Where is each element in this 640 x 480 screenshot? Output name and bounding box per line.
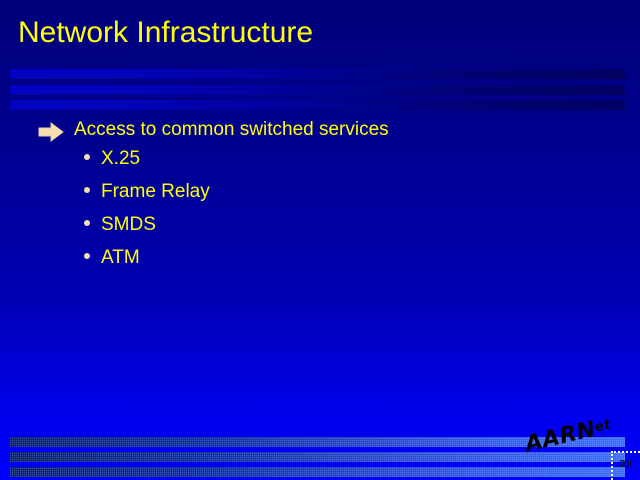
dot-bullet-icon	[84, 253, 90, 259]
aarnet-logo-main: AARN	[523, 417, 598, 457]
list-item: SMDS	[0, 214, 640, 247]
dot-bullet-icon	[84, 220, 90, 226]
bullet-item-level1: Access to common switched services	[0, 118, 640, 148]
slide-title: Network Infrastructure	[18, 16, 313, 50]
decorative-bar-top-3	[10, 100, 625, 110]
list-item-label: ATM	[101, 247, 140, 269]
list-item: X.25	[0, 148, 640, 181]
bullet-item-level1-label: Access to common switched services	[74, 118, 389, 142]
decorative-bar-top-1	[10, 69, 625, 79]
list-item: ATM	[0, 247, 640, 280]
list-item: Frame Relay	[0, 181, 640, 214]
list-item-label: X.25	[101, 148, 140, 170]
dot-bullet-icon	[84, 187, 90, 193]
slide-body: Access to common switched services X.25 …	[0, 118, 640, 280]
decorative-bar-bottom-3	[10, 467, 625, 477]
page-number-box: 28	[611, 451, 640, 480]
list-item-label: Frame Relay	[101, 181, 210, 203]
page-number: 28	[619, 459, 633, 470]
list-item-label: SMDS	[101, 214, 156, 236]
dot-bullet-icon	[84, 154, 90, 160]
decorative-bar-top-2	[10, 85, 625, 95]
presentation-slide: Network Infrastructure Access to common …	[0, 0, 640, 480]
aarnet-logo-suffix: et	[593, 417, 612, 435]
right-arrow-icon	[38, 122, 64, 142]
sub-bullet-list: X.25 Frame Relay SMDS ATM	[0, 148, 640, 280]
